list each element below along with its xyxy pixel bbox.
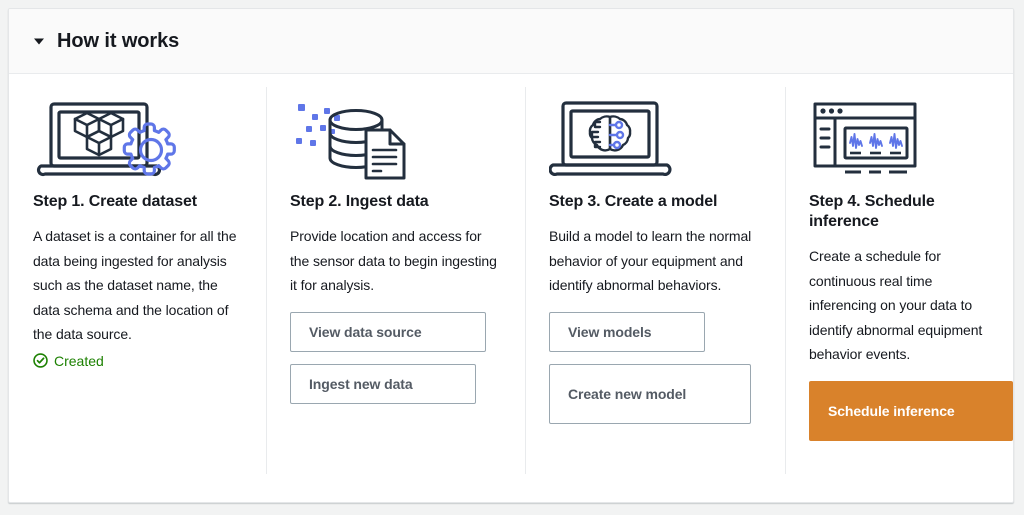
ingest-new-data-button[interactable]: Ingest new data [290, 364, 476, 404]
step-3-actions: View models Create new model [549, 312, 761, 436]
how-it-works-card: How it works [8, 8, 1014, 503]
step-title-4: Step 4. Schedule inference [809, 192, 989, 232]
chevron-down-triangle-icon[interactable] [31, 33, 47, 49]
step-description-1: A dataset is a container for all the dat… [33, 224, 242, 347]
laptop-brain-icon [549, 98, 761, 184]
status-label: Created [54, 353, 104, 369]
status-badge: Created [33, 353, 242, 369]
step-description-2: Provide location and access for the sens… [290, 224, 501, 298]
step-description-4: Create a schedule for continuous real ti… [809, 244, 989, 367]
step-column-4: Step 4. Schedule inference Create a sche… [785, 74, 1013, 502]
step-column-1: Step 1. Create dataset A dataset is a co… [9, 74, 266, 502]
steps-container: Step 1. Create dataset A dataset is a co… [9, 74, 1013, 502]
database-document-icon [290, 98, 501, 184]
step-title-3: Step 3. Create a model [549, 192, 761, 212]
create-new-model-button[interactable]: Create new model [549, 364, 751, 424]
check-circle-icon [33, 353, 48, 368]
step-description-3: Build a model to learn the normal behavi… [549, 224, 761, 298]
step-2-actions: View data source Ingest new data [290, 312, 501, 416]
step-4-actions: Schedule inference [809, 381, 989, 453]
view-data-source-button[interactable]: View data source [290, 312, 486, 352]
page-root: How it works [0, 0, 1024, 515]
step-title-2: Step 2. Ingest data [290, 192, 501, 212]
step-column-3: Step 3. Create a model Build a model to … [525, 74, 785, 502]
laptop-cubes-gear-icon [33, 98, 242, 184]
step-title-1: Step 1. Create dataset [33, 192, 242, 212]
step-column-2: Step 2. Ingest data Provide location and… [266, 74, 525, 502]
dashboard-waveform-icon [809, 98, 989, 184]
page-title: How it works [57, 31, 179, 51]
schedule-inference-button[interactable]: Schedule inference [809, 381, 1013, 441]
view-models-button[interactable]: View models [549, 312, 705, 352]
card-header[interactable]: How it works [9, 9, 1013, 74]
